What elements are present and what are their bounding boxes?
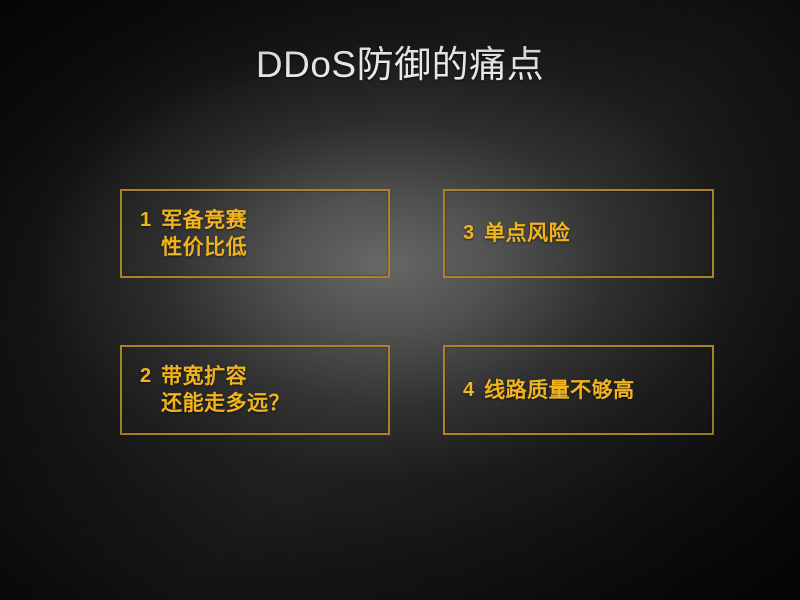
pain-point-line-4-1: 线路质量不够高 xyxy=(484,377,635,404)
pain-point-number-1: 1 xyxy=(140,207,151,234)
pain-point-number-4: 4 xyxy=(463,377,474,404)
pain-point-box-3[interactable]: 3 单点风险 xyxy=(443,189,714,278)
pain-point-line-1-2: 性价比低 xyxy=(161,234,247,261)
pain-point-content-4: 4 线路质量不够高 xyxy=(463,347,704,433)
vignette-overlay xyxy=(0,0,800,600)
pain-point-number-3: 3 xyxy=(463,220,474,247)
page-title: DDoS防御的痛点 xyxy=(0,42,800,88)
pain-point-lines-1: 军备竞赛 性价比低 xyxy=(161,207,247,261)
pain-point-lines-2: 带宽扩容 还能走多远？ xyxy=(161,363,290,417)
pain-point-number-2: 2 xyxy=(140,363,151,390)
pain-point-lines-3: 单点风险 xyxy=(484,220,570,247)
pain-point-line-3-1: 单点风险 xyxy=(484,220,570,247)
pain-point-box-1[interactable]: 1 军备竞赛 性价比低 xyxy=(120,189,390,278)
pain-point-row-3: 3 单点风险 xyxy=(463,220,570,247)
pain-point-line-1-1: 军备竞赛 xyxy=(161,207,247,234)
presentation-slide: DDoS防御的痛点 1 军备竞赛 性价比低 3 单点风险 2 xyxy=(0,0,800,600)
pain-point-box-2[interactable]: 2 带宽扩容 还能走多远？ xyxy=(120,345,390,435)
pain-point-lines-4: 线路质量不够高 xyxy=(484,377,635,404)
pain-point-row-4: 4 线路质量不够高 xyxy=(463,377,635,404)
pain-point-content-1: 1 军备竞赛 性价比低 xyxy=(140,191,380,276)
pain-point-box-4[interactable]: 4 线路质量不够高 xyxy=(443,345,714,435)
pain-point-row-2: 2 带宽扩容 还能走多远？ xyxy=(140,363,290,417)
pain-point-line-2-2: 还能走多远？ xyxy=(161,390,290,417)
pain-point-content-3: 3 单点风险 xyxy=(463,191,704,276)
pain-point-content-2: 2 带宽扩容 还能走多远？ xyxy=(140,347,380,433)
pain-point-row-1: 1 军备竞赛 性价比低 xyxy=(140,207,247,261)
pain-point-line-2-1: 带宽扩容 xyxy=(161,363,290,390)
